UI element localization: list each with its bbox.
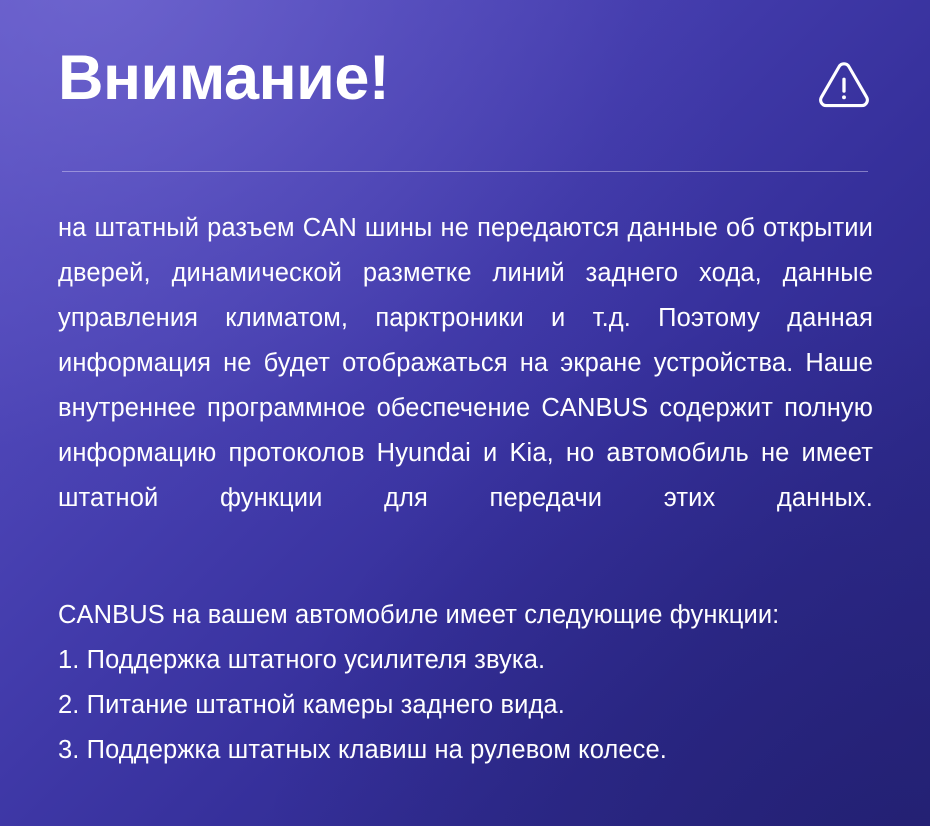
banner-header: Внимание! xyxy=(58,0,872,172)
canbus-feature-list: CANBUS на вашем автомобиле имеет следующ… xyxy=(58,593,886,773)
list-item: 3. Поддержка штатных клавиш на рулевом к… xyxy=(58,728,886,773)
header-divider xyxy=(62,171,868,172)
warning-banner: Внимание! на штатный разъем CAN шины не … xyxy=(0,0,930,826)
banner-body: на штатный разъем CAN шины не передаются… xyxy=(58,172,872,773)
paragraph-can-limitations: на штатный разъем CAN шины не передаются… xyxy=(58,206,873,566)
warning-triangle-icon xyxy=(818,60,870,112)
feature-list-intro: CANBUS на вашем автомобиле имеет следующ… xyxy=(58,593,886,638)
list-item: 1. Поддержка штатного усилителя звука. xyxy=(58,638,886,683)
list-item: 2. Питание штатной камеры заднего вида. xyxy=(58,683,886,728)
page-title: Внимание! xyxy=(58,47,389,110)
banner-content: Внимание! на штатный разъем CAN шины не … xyxy=(0,0,930,773)
